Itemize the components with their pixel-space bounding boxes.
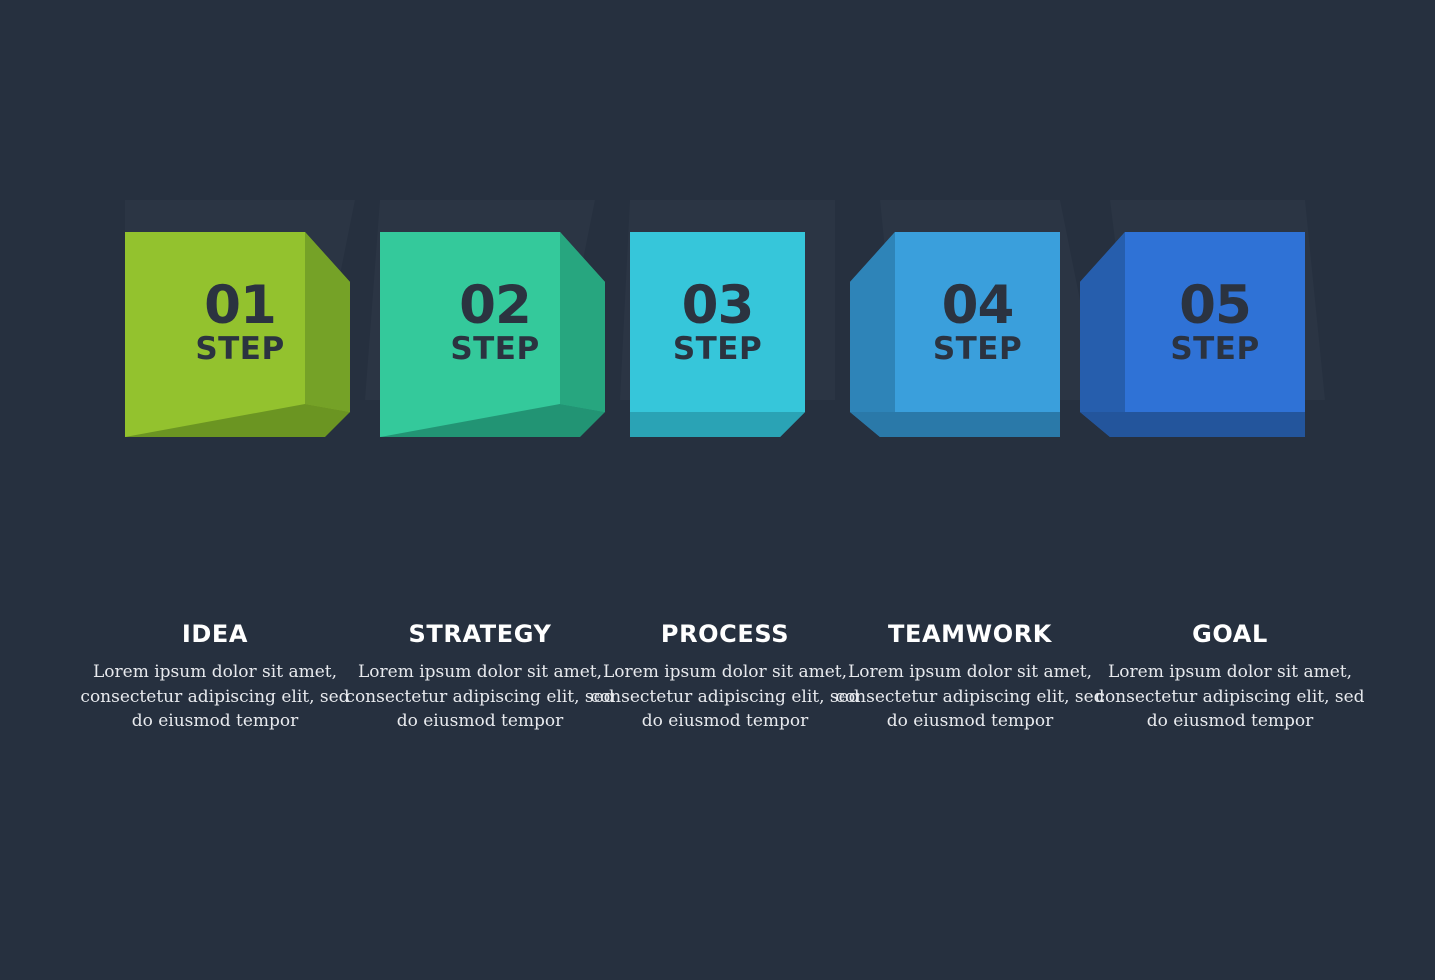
caption-title-5: GOAL xyxy=(1090,620,1370,648)
steps-layer: 01 STEP IDEA Lorem ipsum dolor sit amet,… xyxy=(0,0,1435,980)
caption-body-1: Lorem ipsum dolor sit amet, consectetur … xyxy=(75,660,355,734)
caption-4: TEAMWORK Lorem ipsum dolor sit amet, con… xyxy=(830,620,1110,734)
caption-title-4: TEAMWORK xyxy=(830,620,1110,648)
cube-5 xyxy=(1075,232,1375,442)
caption-title-3: PROCESS xyxy=(585,620,865,648)
caption-title-2: STRATEGY xyxy=(340,620,620,648)
caption-title-1: IDEA xyxy=(75,620,355,648)
caption-2: STRATEGY Lorem ipsum dolor sit amet, con… xyxy=(340,620,620,734)
caption-body-4: Lorem ipsum dolor sit amet, consectetur … xyxy=(830,660,1110,734)
caption-1: IDEA Lorem ipsum dolor sit amet, consect… xyxy=(75,620,355,734)
step-shadow-5 xyxy=(1075,0,1375,980)
caption-body-2: Lorem ipsum dolor sit amet, consectetur … xyxy=(340,660,620,734)
caption-body-5: Lorem ipsum dolor sit amet, consectetur … xyxy=(1090,660,1370,734)
caption-3: PROCESS Lorem ipsum dolor sit amet, cons… xyxy=(585,620,865,734)
step-group-5[interactable]: 05 STEP GOAL Lorem ipsum dolor sit amet,… xyxy=(1075,0,1375,980)
infographic-canvas: 01 STEP IDEA Lorem ipsum dolor sit amet,… xyxy=(0,0,1435,980)
caption-5: GOAL Lorem ipsum dolor sit amet, consect… xyxy=(1090,620,1370,734)
caption-body-3: Lorem ipsum dolor sit amet, consectetur … xyxy=(585,660,865,734)
